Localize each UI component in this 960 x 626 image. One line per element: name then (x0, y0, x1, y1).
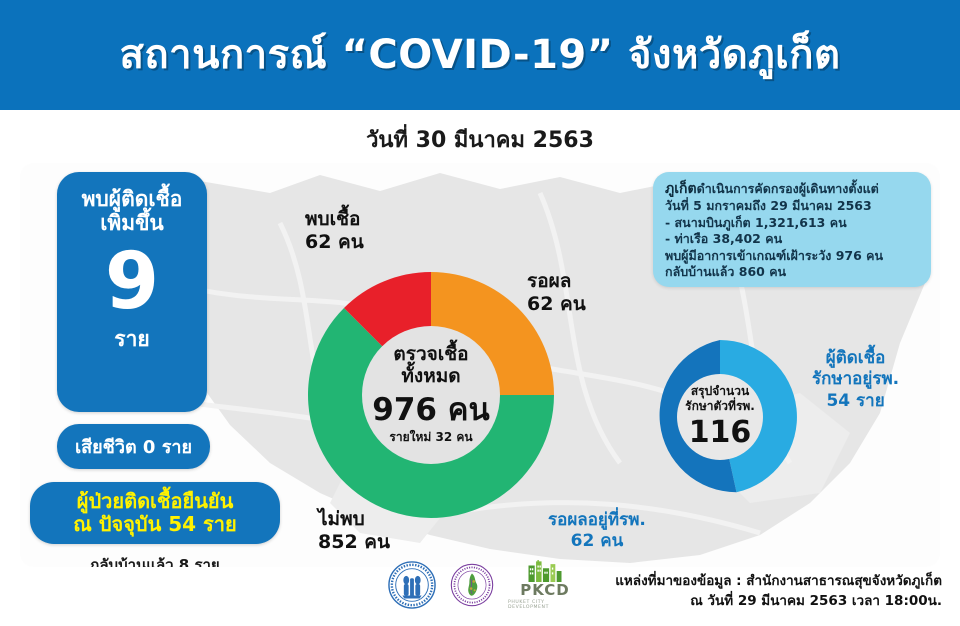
confirmed-cases-badge: ผู้ป่วยติดเชื้อยืนยัน ณ ปัจจุบัน 54 ราย (30, 482, 280, 544)
new-cases-card: พบผู้ติดเชื้อ เพิ่มขึ้น 9 ราย (57, 172, 207, 412)
screening-line-5: พบผู้มีอาการเข้าเกณฑ์เฝ้าระวัง 976 คน (665, 248, 921, 265)
screening-info-box: ภูเก็ตดำเนินการคัดกรองผู้เดินทางตั้งแต่ … (653, 172, 931, 287)
report-date: วันที่ 30 มีนาคม 2563 (0, 122, 960, 157)
footer-logos: PKCD PHUKET CITY DEVELOPMENT (388, 560, 582, 610)
screening-line1-rest: ดำเนินการคัดกรองผู้เดินทางตั้งแต่ (697, 181, 879, 196)
pkcd-building-icon (520, 560, 570, 582)
testing-donut-svg (302, 266, 560, 524)
deaths-text: เสียชีวิต 0 ราย (75, 432, 192, 461)
label-waiting-hospital: รอผลอยู่ที่รพ. 62 คน (548, 510, 646, 553)
hospital-donut-svg (639, 336, 801, 498)
label-inpatient-l3: 54 ราย (812, 391, 899, 412)
screening-line-1: ภูเก็ตดำเนินการคัดกรองผู้เดินทางตั้งแต่ (665, 180, 921, 198)
label-inpatient: ผู้ติดเชื้อ รักษาอยู่รพ. 54 ราย (812, 348, 899, 412)
new-cases-label-line1: พบผู้ติดเชื้อ (82, 188, 183, 212)
ministry-of-public-health-logo-icon (388, 561, 436, 609)
pkcd-wordmark: PKCD (520, 583, 569, 598)
label-found-l2: 62 คน (305, 231, 364, 254)
source-line-1: แหล่งที่มาของข้อมูล : สำนักงานสาธารณสุขจ… (615, 572, 942, 592)
label-waiting-l2: 62 คน (548, 531, 646, 552)
confirmed-line1: ผู้ป่วยติดเชื้อยืนยัน (77, 490, 234, 513)
new-cases-unit: ราย (114, 323, 149, 356)
hospital-donut-hole (677, 374, 763, 460)
label-pending-l1: รอผล (527, 270, 586, 293)
label-waiting-l1: รอผลอยู่ที่รพ. (548, 510, 646, 531)
label-inpatient-l1: ผู้ติดเชื้อ (812, 348, 899, 369)
label-not-found: ไม่พบ 852 คน (318, 508, 390, 554)
label-inpatient-l2: รักษาอยู่รพ. (812, 369, 899, 390)
confirmed-line2: ณ ปัจจุบัน 54 ราย (73, 513, 236, 536)
hospital-donut-chart: สรุปจำนวน รักษาตัวที่รพ. 116 (639, 336, 801, 498)
screening-line-3: - สนามบินภูเก็ต 1,321,613 คน (665, 215, 921, 232)
phuket-province-logo-icon (450, 563, 494, 607)
new-cases-label-line2: เพิ่มขึ้น (100, 212, 164, 236)
new-cases-value: 9 (105, 243, 159, 321)
source-line-2: ณ วันที่ 29 มีนาคม 2563 เวลา 18:00น. (615, 592, 942, 612)
screening-line-6: กลับบ้านแล้ว 860 คน (665, 264, 921, 281)
pkcd-tagline: PHUKET CITY DEVELOPMENT (508, 600, 582, 610)
label-notfound-l2: 852 คน (318, 531, 390, 554)
header-divider (0, 107, 960, 110)
screening-lead: ภูเก็ต (665, 181, 697, 197)
testing-donut-chart: ตรวจเชื้อ ทั้งหมด 976 คน รายใหม่ 32 คน (302, 266, 560, 524)
data-source-note: แหล่งที่มาของข้อมูล : สำนักงานสาธารณสุขจ… (615, 572, 942, 611)
label-found-l1: พบเชื้อ (305, 208, 364, 231)
screening-line-4: - ท่าเรือ 38,402 คน (665, 231, 921, 248)
screening-line-2: วันที่ 5 มกราคมถึง 29 มีนาคม 2563 (665, 198, 921, 215)
page-header: สถานการณ์ “COVID-19” จังหวัดภูเก็ต (0, 0, 960, 107)
deaths-badge: เสียชีวิต 0 ราย (57, 424, 210, 469)
donut-hole (362, 326, 500, 464)
page-title: สถานการณ์ “COVID-19” จังหวัดภูเก็ต (120, 22, 841, 86)
label-pending-results: รอผล 62 คน (527, 270, 586, 316)
pkcd-logo: PKCD PHUKET CITY DEVELOPMENT (508, 560, 582, 610)
label-found-cases: พบเชื้อ 62 คน (305, 208, 364, 254)
label-pending-l2: 62 คน (527, 293, 586, 316)
label-notfound-l1: ไม่พบ (318, 508, 390, 531)
